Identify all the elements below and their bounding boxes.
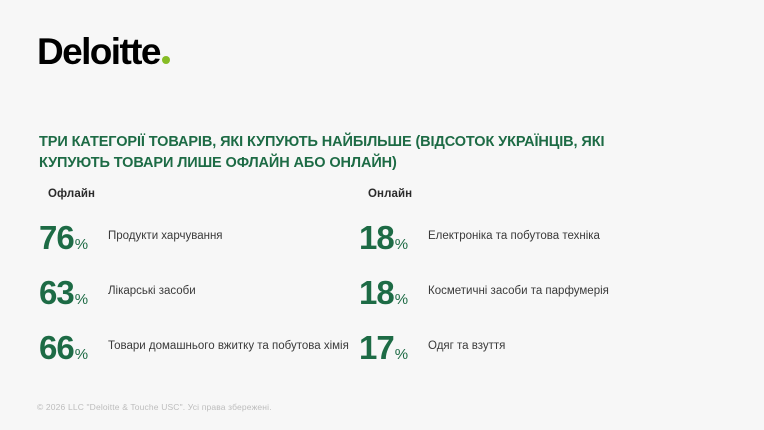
percent-sign: %	[75, 292, 88, 307]
stat-row: 76 % Продукти харчування	[39, 216, 359, 258]
stat-value: 18 %	[359, 276, 421, 309]
stat-value: 17 %	[359, 331, 421, 364]
stat-number: 63	[39, 276, 74, 309]
stat-label: Одяг та взуття	[421, 339, 505, 355]
stat-row: 18 % Електроніка та побутова техніка	[359, 216, 679, 258]
deloitte-logo: Deloitte	[37, 33, 170, 70]
stat-value: 18 %	[359, 221, 421, 254]
stats-columns: Офлайн 76 % Продукти харчування 63 % Лік…	[39, 188, 729, 368]
percent-sign: %	[75, 347, 88, 362]
stat-number: 66	[39, 331, 74, 364]
copyright-footer: © 2026 LLC "Deloitte & Touche USC". Усі …	[37, 402, 272, 412]
logo-dot-icon	[162, 56, 170, 64]
percent-sign: %	[395, 347, 408, 362]
infographic-slide: Deloitte ТРИ КАТЕГОРІЇ ТОВАРІВ, ЯКІ КУПУ…	[0, 0, 764, 430]
stat-value: 76 %	[39, 221, 101, 254]
stat-label: Електроніка та побутова техніка	[421, 229, 600, 245]
stat-value: 66 %	[39, 331, 101, 364]
percent-sign: %	[395, 292, 408, 307]
page-title: ТРИ КАТЕГОРІЇ ТОВАРІВ, ЯКІ КУПУЮТЬ НАЙБІ…	[39, 132, 639, 174]
stat-row: 17 % Одяг та взуття	[359, 326, 679, 368]
stat-number: 17	[359, 331, 394, 364]
percent-sign: %	[395, 237, 408, 252]
stat-number: 18	[359, 221, 394, 254]
stat-label: Лікарські засоби	[101, 284, 196, 300]
percent-sign: %	[75, 237, 88, 252]
column-online: Онлайн 18 % Електроніка та побутова техн…	[359, 188, 679, 368]
stat-row: 63 % Лікарські засоби	[39, 271, 359, 313]
stat-row: 66 % Товари домашнього вжитку та побутов…	[39, 326, 359, 368]
stat-label: Косметичні засоби та парфумерія	[421, 284, 609, 300]
stat-label: Товари домашнього вжитку та побутова хім…	[101, 339, 349, 355]
column-offline: Офлайн 76 % Продукти харчування 63 % Лік…	[39, 188, 359, 368]
stat-number: 76	[39, 221, 74, 254]
column-heading-online: Онлайн	[368, 188, 679, 200]
column-heading-offline: Офлайн	[48, 188, 359, 200]
stat-row: 18 % Косметичні засоби та парфумерія	[359, 271, 679, 313]
stat-label: Продукти харчування	[101, 229, 223, 245]
stat-number: 18	[359, 276, 394, 309]
logo-wordmark: Deloitte	[37, 33, 160, 70]
stat-value: 63 %	[39, 276, 101, 309]
